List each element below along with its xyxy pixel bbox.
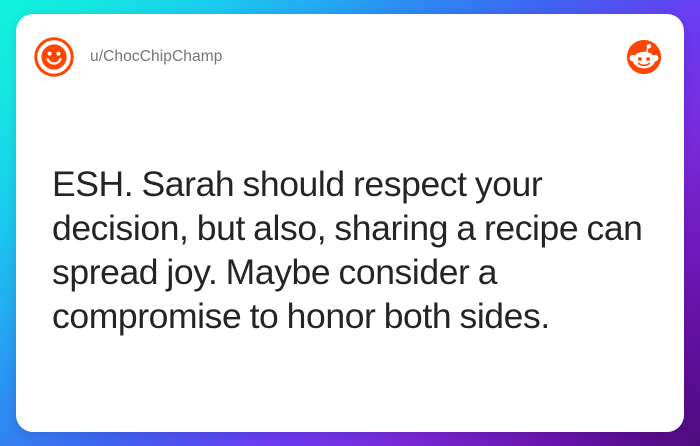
comment-header: u/ChocChipChamp — [16, 14, 684, 100]
reddit-snoo-icon — [626, 39, 662, 75]
reddit-comment-card: u/ChocChipChamp ESH. Sarah should respec — [16, 14, 684, 432]
username-label: u/ChocChipChamp — [90, 49, 222, 65]
comment-body-text: ESH. Sarah should respect your decision,… — [52, 162, 652, 338]
screenshot-stage: u/ChocChipChamp ESH. Sarah should respec — [0, 0, 700, 446]
avatar[interactable] — [34, 37, 74, 77]
smiley-face-avatar-icon — [34, 37, 74, 77]
